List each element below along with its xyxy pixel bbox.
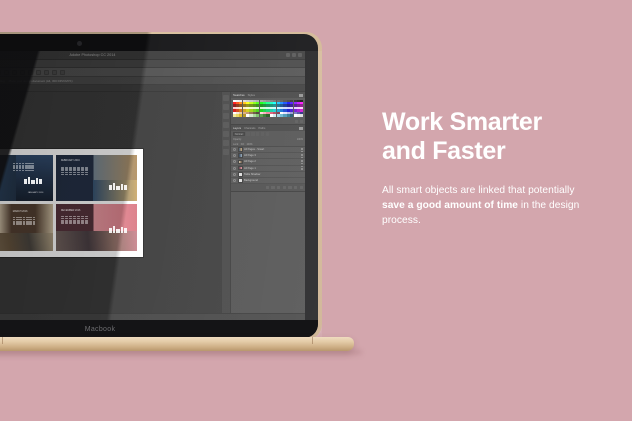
delete-swatch-icon[interactable]	[300, 120, 303, 123]
link-icon[interactable]	[266, 186, 269, 189]
swatches-grid[interactable]	[231, 98, 305, 118]
dist-bottom-icon[interactable]	[36, 70, 41, 75]
layer-thumbnail	[238, 178, 243, 183]
calendar-day-cell	[26, 219, 29, 220]
calendar-day-cell	[69, 218, 72, 219]
calendar-day-cell	[29, 224, 32, 225]
photoshop-title: Adobe Photoshop CC 2014	[69, 53, 115, 57]
panel-icon-rail[interactable]	[222, 92, 231, 313]
canvas-area[interactable]: JANUARY 2016 FEBRUARY 2016 MARCH 201	[0, 92, 221, 313]
calendar-day-cell	[61, 174, 64, 175]
layer-name: All Page 3	[244, 154, 300, 157]
menu-bar[interactable]: PS Bridge Layout Type Select Filter 3D V…	[0, 60, 305, 68]
filter-adjust-icon[interactable]	[251, 132, 254, 135]
marketing-copy: Work Smarter and Faster All smart object…	[382, 108, 598, 228]
styles-panel-icon[interactable]	[223, 122, 229, 128]
document-canvas[interactable]: JANUARY 2016 FEBRUARY 2016 MARCH 201	[0, 149, 143, 257]
calendar-day-cell	[33, 219, 36, 220]
fx-icon[interactable]	[271, 186, 274, 189]
calendar-day-cell	[13, 219, 16, 220]
calendar-day-cell	[31, 170, 33, 171]
swatch-146[interactable]	[300, 114, 303, 116]
opacity-label: Opacity:	[233, 138, 242, 141]
calendar-logo-4	[109, 226, 127, 233]
swatches-panel-tabs[interactable]: Swatches Styles	[231, 92, 305, 98]
swatches-panel-icon[interactable]	[223, 104, 229, 110]
calendar-grid-1	[13, 163, 34, 171]
headline: Work Smarter and Faster	[382, 108, 598, 165]
calendar-day-cell	[16, 163, 18, 164]
calendar-page-4[interactable]: DECEMBER 2016	[56, 204, 137, 251]
history-panel-icon[interactable]	[223, 131, 229, 137]
layer-fx-icon[interactable]	[301, 148, 303, 152]
color-panel-icon[interactable]	[223, 95, 229, 101]
status-bar[interactable]: 33.33% Doc: 24.5M/48.2M	[0, 313, 305, 320]
swatches-footer[interactable]	[231, 118, 305, 124]
layers-panel-tabs[interactable]: Layers Channels Paths	[231, 125, 305, 131]
calendar-day-cell	[65, 223, 68, 224]
blend-mode-dropdown[interactable]: Normal	[233, 132, 245, 136]
calendar-day-cell	[23, 224, 26, 225]
mask-icon[interactable]	[277, 186, 280, 189]
layer-visibility-icon[interactable]	[233, 154, 236, 157]
layer-thumbnail	[238, 166, 243, 171]
laptop-base-shadow	[0, 350, 362, 357]
layers-footer[interactable]	[231, 184, 305, 191]
minimize-button[interactable]	[286, 53, 290, 57]
tab-swatches[interactable]: Swatches	[233, 94, 245, 97]
align-bottom-icon[interactable]	[12, 70, 17, 75]
dist-left-icon[interactable]	[44, 70, 49, 75]
calendar-month-1: JANUARY 2016	[28, 192, 44, 194]
calendar-month-3: MARCH 2016	[13, 210, 28, 213]
layer-thumbnail	[238, 147, 243, 152]
layer-name: Background	[244, 179, 303, 182]
panel-stack: Swatches Styles	[231, 92, 305, 313]
calendar-page-2[interactable]: FEBRUARY 2016	[56, 155, 137, 202]
dist-top-icon[interactable]	[20, 70, 25, 75]
delete-icon[interactable]	[300, 186, 303, 189]
properties-panel-icon[interactable]	[223, 140, 229, 146]
layer-thumbnail	[238, 172, 243, 177]
layer-visibility-icon[interactable]	[233, 167, 236, 170]
photoshop-title-bar: Adobe Photoshop CC 2014	[0, 51, 305, 60]
calendar-day-cell	[73, 174, 76, 175]
layer-visibility-icon[interactable]	[233, 179, 236, 182]
body-copy: All smart objects are linked that potent…	[382, 184, 598, 228]
poster-stage: Adobe Photoshop CC 2014 PS Bridge Layout…	[0, 0, 632, 421]
base-notch-right	[312, 337, 313, 344]
right-panels: Swatches Styles	[221, 92, 305, 313]
body-copy-part-1: All smart objects are linked that potent…	[382, 185, 575, 196]
character-panel-icon[interactable]	[223, 149, 229, 155]
panel-empty-space	[231, 192, 305, 313]
calendar-day-cell	[16, 219, 19, 220]
group-icon[interactable]	[288, 186, 291, 189]
calendar-day-cell	[33, 224, 36, 225]
calendar-day-cell	[61, 223, 64, 224]
panel-menu-icon[interactable]	[299, 94, 303, 97]
calendar-day-cell	[65, 218, 68, 219]
calendar-day-cell	[13, 163, 15, 164]
calendar-day-cell	[65, 172, 68, 173]
macbook-mockup: Adobe Photoshop CC 2014 PS Bridge Layout…	[0, 32, 330, 362]
filter-shape-icon[interactable]	[261, 132, 264, 135]
calendar-day-cell	[77, 174, 80, 175]
calendar-month-4: DECEMBER 2016	[61, 209, 81, 212]
calendar-grid-3	[13, 217, 36, 225]
calendar-page-1[interactable]: JANUARY 2016	[0, 155, 53, 202]
calendar-day-cell	[85, 174, 88, 175]
calendar-day-cell	[16, 224, 19, 225]
filter-type-icon[interactable]	[256, 132, 259, 135]
tab-styles[interactable]: Styles	[248, 94, 255, 97]
calendar-day-cell	[73, 218, 76, 219]
calendar-day-cell	[69, 223, 72, 224]
body-copy-highlight: save a good amount of time	[382, 200, 518, 211]
webcam-icon	[77, 41, 82, 46]
calendar-logo-1	[24, 177, 42, 184]
calendar-day-cell	[61, 218, 64, 219]
calendar-day-cell	[19, 163, 21, 164]
calendar-day-cell	[69, 172, 72, 173]
document-tab-bar[interactable]: London Calendar 2016.psd @ 33.3% (Backgr…	[0, 85, 305, 92]
calendar-day-cell	[26, 224, 29, 225]
layer-name: All Pages - Smart	[244, 148, 300, 151]
headline-line-1: Work Smarter	[382, 108, 542, 136]
tab-channels[interactable]: Channels	[244, 127, 255, 130]
laptop-bottom-bezel: Macbook	[0, 320, 318, 338]
dist-right-icon[interactable]	[60, 70, 65, 75]
laptop-base	[0, 337, 354, 351]
opacity-value[interactable]: 100%	[297, 138, 303, 141]
dist-center-icon[interactable]	[52, 70, 57, 75]
calendar-day-cell	[19, 170, 21, 171]
align-middle-icon[interactable]	[4, 70, 9, 75]
layer-thumbnail	[238, 153, 243, 158]
layers-panel-menu-icon[interactable]	[299, 127, 303, 130]
layer-visibility-icon[interactable]	[233, 173, 236, 176]
swatches-panel[interactable]: Swatches Styles	[231, 92, 305, 125]
calendar-day-cell	[73, 223, 76, 224]
tool-options-bar[interactable]: Path Selection All Layers Show Transform…	[0, 68, 305, 77]
calendar-day-cell	[13, 224, 16, 225]
layer-visibility-icon[interactable]	[233, 160, 236, 163]
close-button[interactable]	[298, 53, 302, 57]
calendar-day-cell	[19, 224, 22, 225]
calendar-grid-2	[61, 167, 88, 175]
calendar-day-cell	[77, 223, 80, 224]
layer-fx-icon[interactable]	[301, 154, 303, 158]
transform-values-bar[interactable]: X: 1020 px Y: 520 px W: 100.00% H: 100.0…	[0, 77, 305, 85]
layers-panel[interactable]: Layers Channels Paths Normal	[231, 125, 305, 192]
fill-value[interactable]: 100%	[246, 143, 252, 146]
layer-fx-icon[interactable]	[301, 166, 303, 170]
calendar-logo-2	[109, 183, 127, 190]
maximize-button[interactable]	[292, 53, 296, 57]
adjustment-icon[interactable]	[283, 186, 286, 189]
layer-visibility-icon[interactable]	[233, 148, 236, 151]
calendar-day-cell	[81, 218, 84, 219]
workspace: JANUARY 2016 FEBRUARY 2016 MARCH 201	[0, 92, 305, 313]
calendar-day-cell	[16, 170, 18, 171]
base-notch-left	[2, 337, 3, 344]
fill-label: Fill:	[241, 143, 245, 146]
calendar-day-cell	[85, 223, 88, 224]
layer-fx-icon[interactable]	[301, 160, 303, 164]
dist-middle-icon[interactable]	[28, 70, 33, 75]
calendar-day-cell	[73, 172, 76, 173]
filter-pixel-icon[interactable]	[246, 132, 249, 135]
laptop-screen: Adobe Photoshop CC 2014 PS Bridge Layout…	[0, 51, 305, 320]
calendar-page-3[interactable]: MARCH 2016	[0, 204, 53, 251]
calendar-month-2: FEBRUARY 2016	[61, 159, 80, 162]
layer-name: All Page 2	[244, 160, 300, 163]
calendar-day-cell	[77, 218, 80, 219]
calendar-day-cell	[61, 172, 64, 173]
calendar-day-cell	[85, 218, 88, 219]
adjustments-panel-icon[interactable]	[223, 113, 229, 119]
photoshop-window: Adobe Photoshop CC 2014 PS Bridge Layout…	[0, 51, 305, 320]
calendar-day-cell	[81, 174, 84, 175]
calendar-day-cell	[85, 172, 88, 173]
new-layer-icon[interactable]	[294, 186, 297, 189]
tab-paths[interactable]: Paths	[258, 127, 265, 130]
placement-hint: Place your design document (A4, 300 DPI/…	[9, 79, 73, 83]
layer-list[interactable]: All Pages - SmartAll Page 3All Page 2All…	[231, 147, 305, 184]
layer-name: Table Shadow	[244, 173, 303, 176]
tab-layers[interactable]: Layers	[233, 127, 241, 130]
transform-skew-v-value[interactable]: V: 0.00 deg	[0, 79, 5, 83]
calendar-day-cell	[23, 219, 26, 220]
filter-smart-icon[interactable]	[266, 132, 269, 135]
headline-line-2: and Faster	[382, 137, 505, 165]
calendar-day-cell	[13, 170, 15, 171]
layer-name: All Page 1	[244, 167, 300, 170]
calendar-day-cell	[81, 172, 84, 173]
window-controls[interactable]	[286, 53, 302, 57]
align-top-icon[interactable]	[0, 70, 1, 75]
layer-thumbnail	[238, 160, 243, 165]
calendar-day-cell	[29, 219, 32, 220]
calendar-day-cell	[31, 163, 33, 164]
new-swatch-icon[interactable]	[295, 120, 298, 123]
lock-label: Lock:	[233, 143, 239, 146]
calendar-day-cell	[77, 172, 80, 173]
macbook-brand-label: Macbook	[85, 326, 116, 333]
calendar-day-cell	[65, 174, 68, 175]
calendar-grid-4	[61, 216, 88, 224]
calendar-day-cell	[69, 174, 72, 175]
calendar-day-cell	[19, 219, 22, 220]
calendar-day-cell	[81, 223, 84, 224]
